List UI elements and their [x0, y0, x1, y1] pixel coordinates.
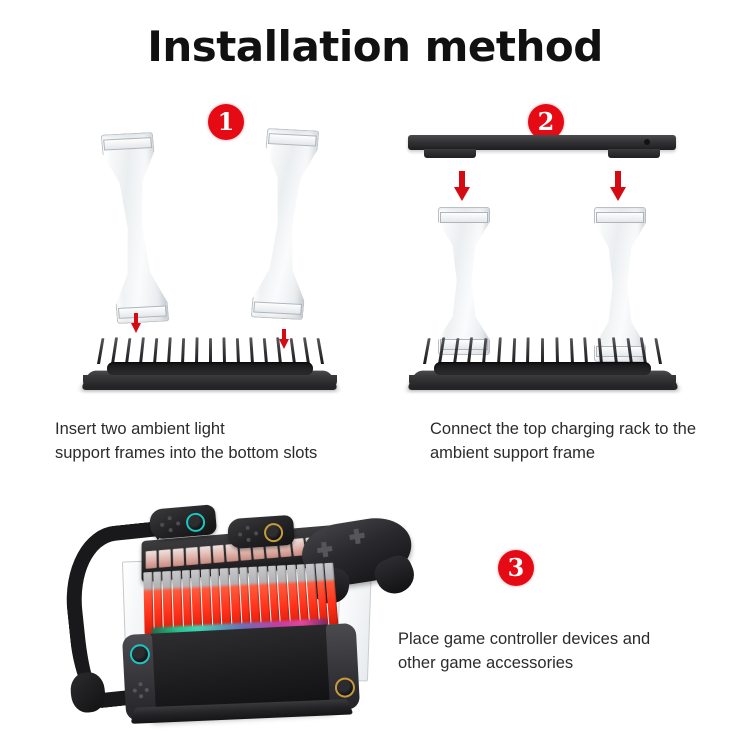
- step-2-caption: Connect the top charging rack to the amb…: [430, 418, 750, 466]
- page-title: Installation method: [0, 22, 750, 71]
- acrylic-support-frame-left: [101, 132, 170, 324]
- step-1-illustration: [75, 125, 345, 390]
- rack-bar-slab: [408, 135, 676, 150]
- base-front-lip: [409, 375, 677, 388]
- base-front-channel: [434, 362, 651, 375]
- step-3-illustration: [60, 495, 400, 725]
- comb-slots: [423, 337, 662, 364]
- pro-controller-dpad: [316, 541, 333, 558]
- frame-top-cap: [596, 212, 644, 223]
- joycon-analog-stick: [263, 522, 283, 542]
- acrylic-glass-body: [101, 132, 170, 324]
- rack-bar-tab-right: [608, 149, 660, 158]
- black-base-tray: [75, 316, 345, 390]
- acrylic-support-frame-right: [251, 128, 320, 320]
- comb-slots: [97, 337, 324, 364]
- pro-controller-grip-right: [371, 551, 420, 599]
- assembled-stand-photo: [60, 495, 400, 725]
- arrow-head: [610, 187, 626, 201]
- joycon-analog-stick: [185, 512, 206, 533]
- connect-arrow-icon-right: [610, 171, 626, 201]
- arrow-head: [454, 187, 470, 201]
- step-2-illustration: [400, 135, 685, 390]
- joycon-buttons: [159, 515, 182, 533]
- joycon-buttons: [238, 525, 261, 542]
- step-3-caption: Place game controller devices and other …: [398, 628, 728, 676]
- base-front-channel: [107, 362, 312, 375]
- step-badge-3: 3: [498, 550, 534, 586]
- console-joycon-right: [326, 623, 360, 710]
- top-charging-rack-bar: [408, 135, 676, 161]
- rack-bar-tab-left: [424, 149, 476, 158]
- console-dpad: [132, 682, 149, 699]
- acrylic-glass-body: [251, 128, 320, 320]
- frame-top-cap: [440, 212, 488, 223]
- joycon-pair-right: [227, 515, 295, 550]
- base-front-lip: [83, 375, 337, 388]
- pro-controller-buttons: [348, 528, 365, 545]
- console-analog-stick-left: [129, 644, 150, 665]
- console-analog-stick-right: [334, 677, 355, 698]
- step-1-caption: Insert two ambient light support frames …: [55, 418, 385, 466]
- joycon-pair-left: [149, 504, 217, 540]
- black-base-tray: [400, 316, 685, 390]
- connect-arrow-icon-left: [454, 171, 470, 201]
- headphone-earcup: [69, 671, 107, 714]
